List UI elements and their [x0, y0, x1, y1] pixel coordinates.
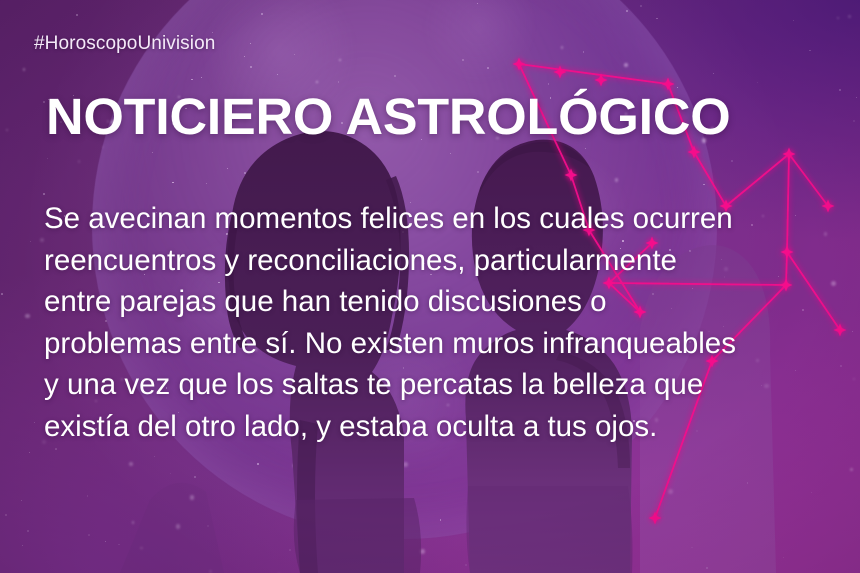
hashtag-label: #HoroscopoUnivision: [34, 33, 215, 55]
body-line-1: Se avecinan momentos felices en los cual…: [44, 198, 834, 240]
body-line-5: y una vez que los saltas te percatas la …: [44, 364, 834, 406]
horoscope-body-text: Se avecinan momentos felices en los cual…: [44, 198, 834, 447]
body-line-3: entre parejas que han tenido discusiones…: [44, 281, 834, 323]
horoscope-card: #HoroscopoUnivision NOTICIERO ASTROLÓGIC…: [0, 0, 860, 573]
page-title: NOTICIERO ASTROLÓGICO: [46, 91, 730, 142]
body-line-2: reencuentros y reconciliaciones, particu…: [44, 240, 834, 282]
body-line-4: problemas entre sí. No existen muros inf…: [44, 323, 834, 365]
body-line-6: existía del otro lado, y estaba oculta a…: [44, 406, 834, 448]
text-content: #HoroscopoUnivision NOTICIERO ASTROLÓGIC…: [0, 0, 860, 573]
